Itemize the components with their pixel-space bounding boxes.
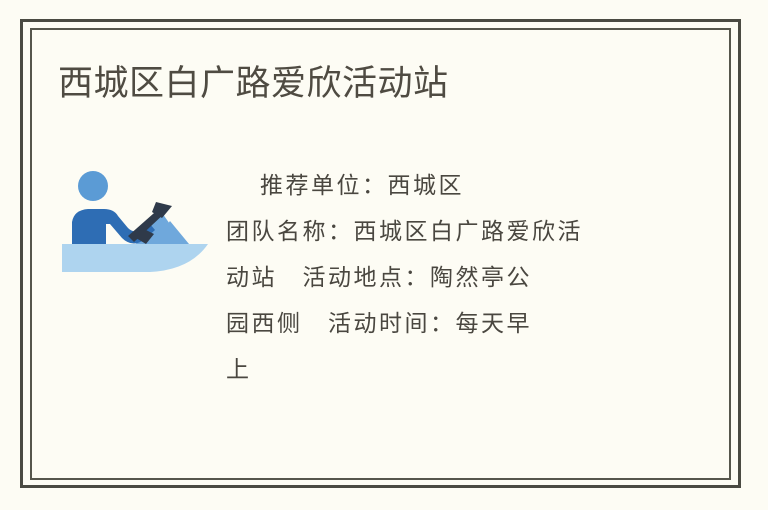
detail-line-5: 上 — [226, 347, 656, 393]
detail-line-3: 动站 活动地点：陶然亭公 — [226, 255, 656, 301]
person-rowing-boat-icon — [58, 166, 208, 278]
detail-line-2: 团队名称：西城区白广路爱欣活 — [226, 209, 656, 255]
detail-line-1: 推荐单位：西城区 — [226, 163, 656, 209]
detail-line-4: 园西侧 活动时间：每天早 — [226, 301, 656, 347]
activity-details: 推荐单位：西城区 团队名称：西城区白广路爱欣活 动站 活动地点：陶然亭公 园西侧… — [226, 163, 656, 393]
card-content: 西城区白广路爱欣活动站 推荐单位：西城区 团队名称：西城区白广路爱欣活 — [0, 0, 768, 510]
info-card: 西城区白广路爱欣活动站 推荐单位：西城区 团队名称：西城区白广路爱欣活 — [0, 0, 768, 510]
page-title: 西城区白广路爱欣活动站 — [58, 62, 449, 106]
